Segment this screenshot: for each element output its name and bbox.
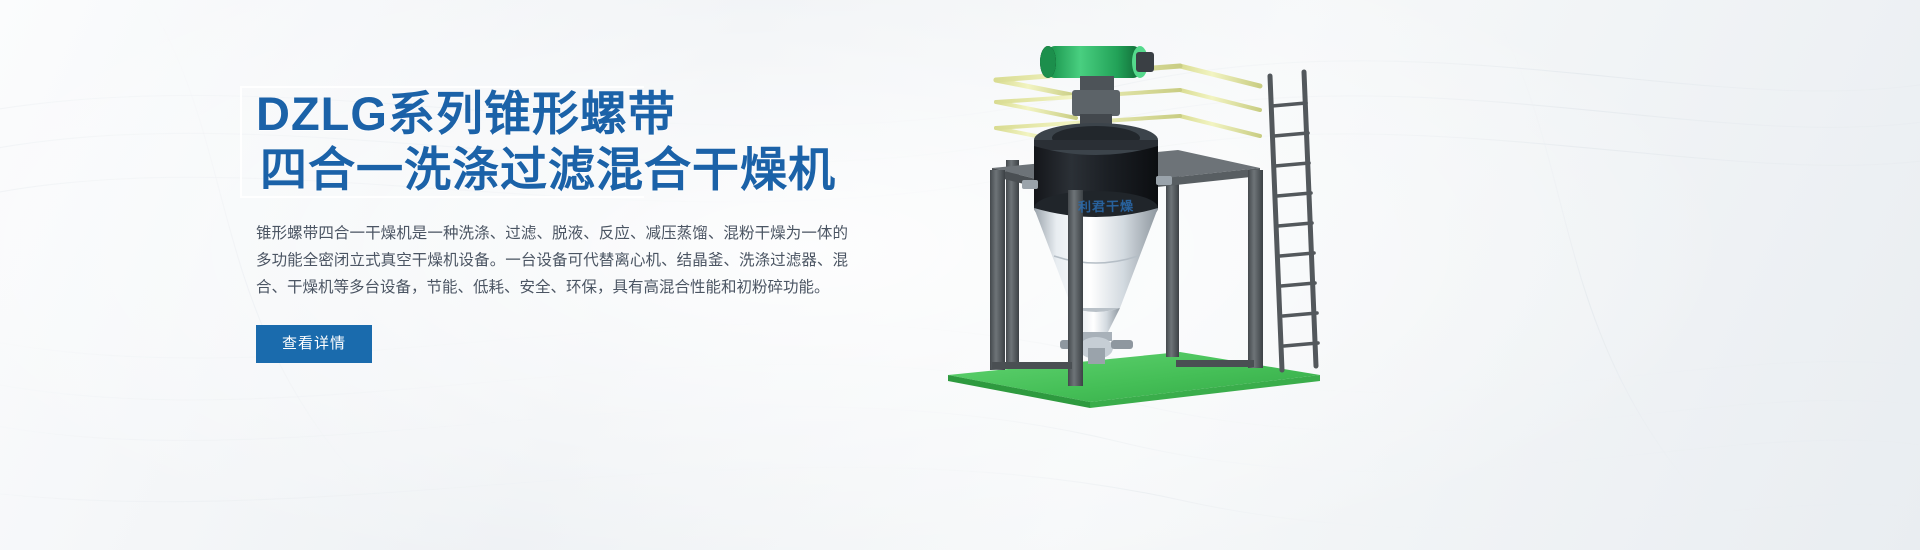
access-ladder bbox=[1270, 72, 1318, 370]
title-line-2: 四合一洗涤过滤混合干燥机 bbox=[256, 142, 876, 198]
view-details-button[interactable]: 查看详情 bbox=[256, 325, 372, 363]
product-description: 锥形螺带四合一干燥机是一种洗涤、过滤、脱液、反应、减压蒸馏、混粉干燥为一体的多功… bbox=[256, 220, 848, 301]
title-line-1: DZLG系列锥形螺带 bbox=[256, 86, 876, 142]
conical-section bbox=[1034, 208, 1158, 312]
hero-banner: DZLG系列锥形螺带 四合一洗涤过滤混合干燥机 锥形螺带四合一干燥机是一种洗涤、… bbox=[0, 0, 1920, 550]
brand-mark: 利君干燥 bbox=[1078, 196, 1134, 216]
product-image bbox=[930, 40, 1350, 420]
hero-text-block: DZLG系列锥形螺带 四合一洗涤过滤混合干燥机 锥形螺带四合一干燥机是一种洗涤、… bbox=[256, 86, 876, 363]
drive-motor bbox=[1040, 46, 1154, 92]
page-title: DZLG系列锥形螺带 四合一洗涤过滤混合干燥机 bbox=[256, 86, 876, 198]
